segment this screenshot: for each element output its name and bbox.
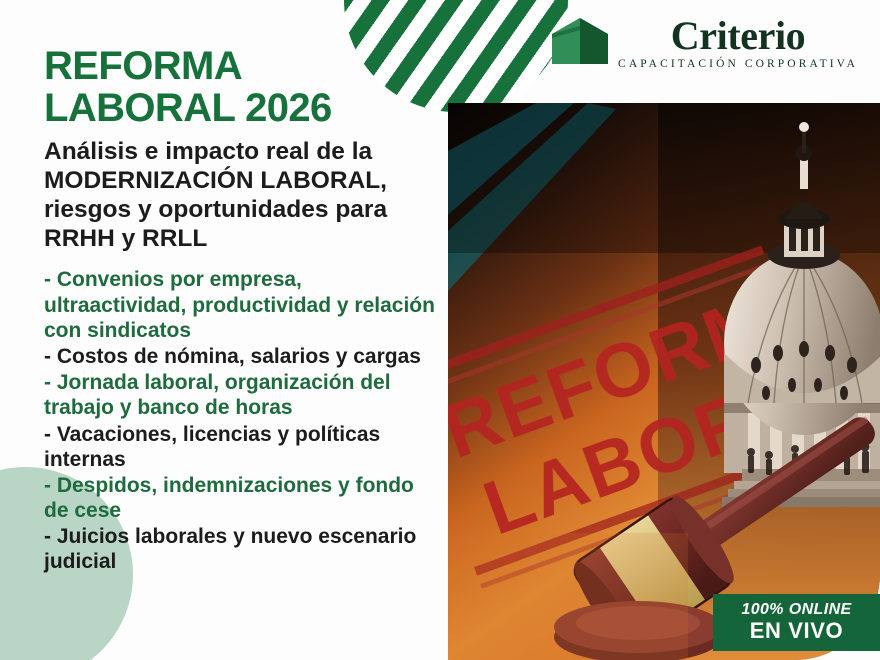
logo-text-block: Criterio CAPACITACIÓN CORPORATIVA (618, 16, 858, 70)
logo-name: Criterio (671, 16, 806, 55)
brand-logo: Criterio CAPACITACIÓN CORPORATIVA (552, 16, 858, 70)
green-box-building-icon (552, 18, 608, 64)
logo-tagline: CAPACITACIÓN CORPORATIVA (618, 58, 858, 70)
hero-photo: REFORMA LABORAL (448, 103, 880, 660)
flyer-canvas: Criterio CAPACITACIÓN CORPORATIVA REFORM… (0, 0, 880, 660)
list-item: - Costos de nómina, salarios y cargas (44, 344, 436, 369)
content-column: REFORMA LABORAL 2026 Análisis e impacto … (44, 45, 436, 576)
list-item: - Jornada laboral, organización del trab… (44, 370, 436, 420)
status-badge: 100% ONLINE EN VIVO (713, 594, 880, 651)
badge-online-label: 100% ONLINE (741, 601, 851, 619)
badge-live-label: EN VIVO (750, 619, 843, 644)
list-item: - Convenios por empresa, ultraactividad,… (44, 267, 436, 343)
list-item: - Juicios laborales y nuevo escenario ju… (44, 524, 436, 574)
hero-photo-artwork: REFORMA LABORAL (448, 103, 880, 660)
list-item: - Vacaciones, licencias y políticas inte… (44, 422, 436, 472)
list-item: - Despidos, indemnizaciones y fondo de c… (44, 473, 436, 523)
topic-list: - Convenios por empresa, ultraactividad,… (44, 267, 436, 574)
page-title: REFORMA LABORAL 2026 (44, 45, 436, 130)
page-subtitle: Análisis e impacto real de la MODERNIZAC… (44, 138, 436, 254)
